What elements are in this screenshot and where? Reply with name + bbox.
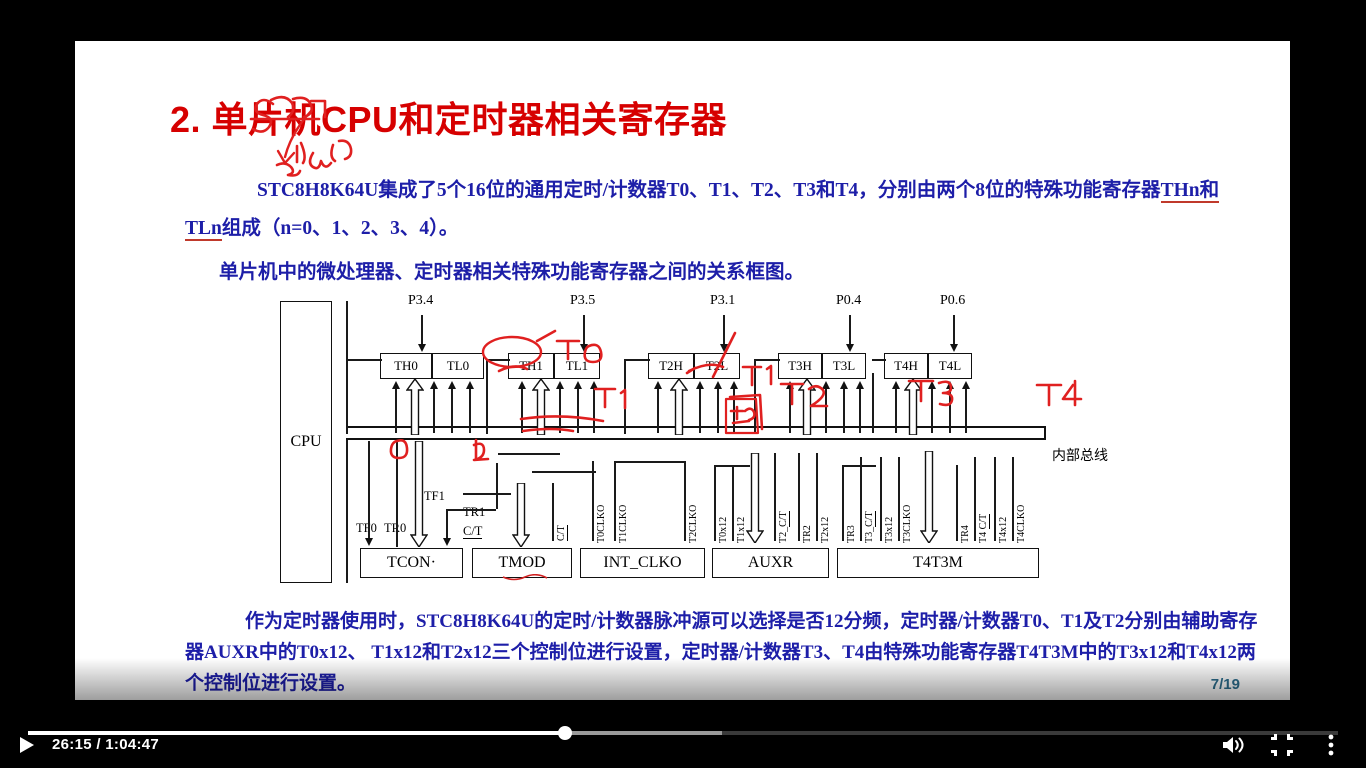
register-th0-label: TH0 <box>394 358 418 374</box>
wide-arrow-t4t3m <box>920 451 938 464</box>
signal-label-ct-tcon: C/T <box>463 524 482 539</box>
exit-fullscreen-button[interactable] <box>1265 728 1299 762</box>
sfr-auxr-label: AUXR <box>748 554 793 572</box>
wide-arrow-t3 <box>798 379 816 392</box>
block-diagram: CPU TH0 TL0 TH1 TL1 T2H T2L T3H <box>280 293 1080 593</box>
slide-canvas: 2. 单片机CPU和定时器相关寄存器 STC8H8K64U集成了5个16位的通用… <box>75 41 1290 700</box>
sfr-box-tcon: TCON· <box>360 548 463 578</box>
signal-label-tr1: TR1 <box>463 505 485 520</box>
internal-bus-label: 内部总线 <box>1052 445 1108 465</box>
wide-arrow-t1 <box>532 379 550 392</box>
signal-label-t2x12: T2x12 <box>820 517 831 543</box>
play-icon <box>19 736 35 754</box>
player-control-bar: 26:15 / 1:04:47 <box>0 704 1366 768</box>
cpu-label: CPU <box>290 433 321 451</box>
signal-label-t1clko: T1CLKO <box>618 505 629 543</box>
sfr-t4t3m-label: T4T3M <box>913 554 963 572</box>
signal-label-t4-ct: T4 C/T <box>978 514 989 543</box>
volume-icon <box>1221 734 1245 756</box>
register-t2h-label: T2H <box>659 358 683 374</box>
wide-arrow-t4 <box>904 379 922 392</box>
port-label-p35: P3.5 <box>570 293 595 309</box>
register-th1: TH1 <box>508 353 554 379</box>
more-options-icon <box>1328 734 1334 756</box>
paragraph-intro: STC8H8K64U集成了5个16位的通用定时/计数器T0、T1、T2、T3和T… <box>185 172 1245 248</box>
play-button[interactable] <box>10 728 44 762</box>
register-tl1-label: TL1 <box>566 358 588 374</box>
more-options-button[interactable] <box>1314 728 1348 762</box>
register-tl0: TL0 <box>432 353 484 379</box>
port-label-p06: P0.6 <box>940 293 965 309</box>
port-label-p04: P0.4 <box>836 293 861 309</box>
register-t3l-label: T3L <box>833 358 855 374</box>
sfr-box-t4t3m: T4T3M <box>837 548 1039 578</box>
signal-label-t4x12: T4x12 <box>998 517 1009 543</box>
sfr-box-auxr: AUXR <box>712 548 829 578</box>
exit-fullscreen-icon <box>1271 734 1293 756</box>
port-label-p31: P3.1 <box>710 293 735 309</box>
register-th0: TH0 <box>380 353 432 379</box>
register-t4h: T4H <box>884 353 928 379</box>
signal-label-t3-ct: T3_C/T <box>864 511 875 543</box>
register-t3h-label: T3H <box>788 358 812 374</box>
signal-label-tr2: TR2 <box>802 525 813 543</box>
sfr-int-clko-label: INT_CLKO <box>603 554 681 572</box>
register-t2l-label: T2L <box>706 358 728 374</box>
register-tl1: TL1 <box>554 353 600 379</box>
signal-label-t0x12: T0x12 <box>718 517 729 543</box>
paragraph-diagram-caption: 单片机中的微处理器、定时器相关特殊功能寄存器之间的关系框图。 <box>185 254 1245 292</box>
register-t2h: T2H <box>648 353 694 379</box>
register-t3h: T3H <box>778 353 822 379</box>
register-t4h-label: T4H <box>894 358 918 374</box>
volume-button[interactable] <box>1216 728 1250 762</box>
register-t2l: T2L <box>694 353 740 379</box>
register-t4l: T4L <box>928 353 972 379</box>
register-t4l-label: T4L <box>939 358 961 374</box>
cpu-block: CPU <box>280 301 332 583</box>
signal-label-tr4: TR4 <box>960 525 971 543</box>
tmod-underline-ink <box>502 574 548 582</box>
sfr-tmod-label: TMOD <box>498 554 545 572</box>
video-player-page: 2. 单片机CPU和定时器相关寄存器 STC8H8K64U集成了5个16位的通用… <box>0 0 1366 768</box>
sfr-tcon-label: TCON· <box>387 554 436 572</box>
paragraph-intro-part2: 组成（n=0、1、2、3、4）。 <box>222 218 458 239</box>
signal-label-t4clko: T4CLKO <box>1016 505 1027 543</box>
sfr-box-int-clko: INT_CLKO <box>580 548 705 578</box>
register-t3l: T3L <box>822 353 866 379</box>
register-th1-label: TH1 <box>519 358 543 374</box>
page-title: 2. 单片机CPU和定时器相关寄存器 <box>170 91 727 143</box>
wide-arrow-tmod <box>512 483 530 496</box>
port-label-p34: P3.4 <box>408 293 433 309</box>
signal-label-t3x12: T3x12 <box>884 517 895 543</box>
signal-label-t3clko: T3CLKO <box>902 505 913 543</box>
signal-label-t0clko: T0CLKO <box>596 505 607 543</box>
signal-label-tf0: TF0 <box>356 521 377 536</box>
register-tl0-label: TL0 <box>447 358 469 374</box>
time-display: 26:15 / 1:04:47 <box>52 736 159 753</box>
wide-arrow-t0 <box>406 379 424 392</box>
wide-arrow-t2 <box>670 379 688 392</box>
signal-label-t2-ct: T2_C/T <box>778 511 789 543</box>
signal-label-ct-tmod: C/T <box>556 525 567 541</box>
wide-arrow-tcon <box>410 441 428 454</box>
signal-label-tr3: TR3 <box>846 525 857 543</box>
signal-label-t2clko: T2CLKO <box>688 505 699 543</box>
paragraph-intro-part1: STC8H8K64U集成了5个16位的通用定时/计数器T0、T1、T2、T3和T… <box>257 180 1161 201</box>
player-buttons-row: 26:15 / 1:04:47 <box>0 722 1366 768</box>
